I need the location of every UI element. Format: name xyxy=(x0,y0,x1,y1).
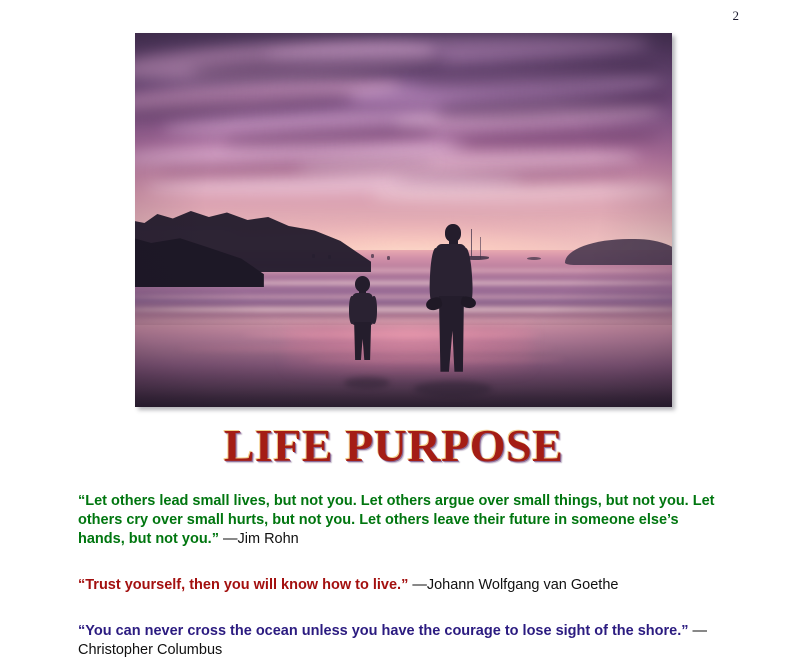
quote-attribution: —Jim Rohn xyxy=(219,531,299,547)
quote-text: “Trust yourself, then you will know how … xyxy=(78,577,408,593)
child-silhouette xyxy=(347,276,379,384)
adult-legs xyxy=(439,296,464,372)
adult-torso xyxy=(435,244,467,300)
quote-columbus: “You can never cross the ocean unless yo… xyxy=(78,622,718,660)
wave-line xyxy=(135,307,672,312)
sunset-beach-photo xyxy=(135,33,672,407)
child-torso xyxy=(352,293,373,325)
quote-attribution: —Johann Wolfgang van Goethe xyxy=(408,577,618,593)
slide-canvas: 2 xyxy=(0,0,787,667)
page-number: 2 xyxy=(733,9,740,22)
photo-canvas xyxy=(135,33,672,407)
distant-boat xyxy=(527,257,541,260)
quote-goethe: “Trust yourself, then you will know how … xyxy=(78,576,718,595)
wave-line xyxy=(135,319,672,323)
adult-silhouette xyxy=(417,224,479,389)
child-legs xyxy=(354,322,371,360)
wave-line xyxy=(135,295,672,299)
quote-jim-rohn: “Let others lead small lives, but not yo… xyxy=(78,492,718,549)
quote-text: “Let others lead small lives, but not yo… xyxy=(78,493,715,547)
sand-streak xyxy=(242,333,543,337)
quote-text: “You can never cross the ocean unless yo… xyxy=(78,623,689,639)
quote-list: “Let others lead small lives, but not yo… xyxy=(78,492,718,661)
wet-sand-foreground xyxy=(135,325,672,407)
page-title: LIFE PURPOSE xyxy=(0,422,787,470)
